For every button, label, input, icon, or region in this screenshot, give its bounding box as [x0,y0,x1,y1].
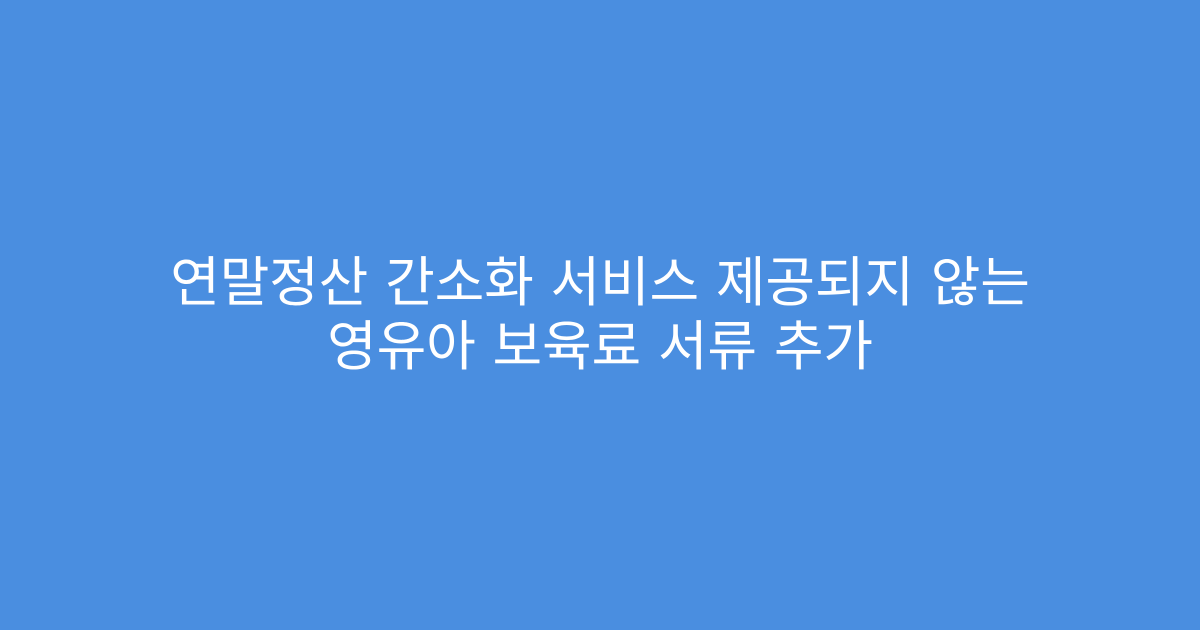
og-share-card: 연말정산 간소화 서비스 제공되지 않는 영유아 보육료 서류 추가 [0,0,1200,630]
headline-container: 연말정산 간소화 서비스 제공되지 않는 영유아 보육료 서류 추가 [100,251,1100,379]
page-title: 연말정산 간소화 서비스 제공되지 않는 영유아 보육료 서류 추가 [100,251,1100,379]
